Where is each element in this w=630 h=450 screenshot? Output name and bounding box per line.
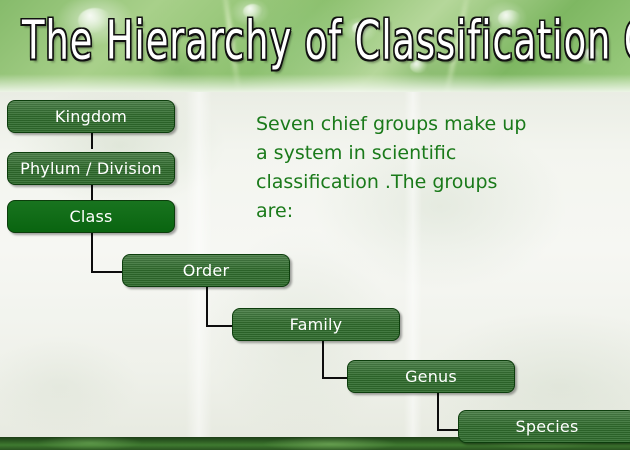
description-line: a system in scientific	[256, 139, 606, 168]
hierarchy-node-label: Family	[290, 315, 343, 334]
slide-canvas: The Hierarchy of Classification Groups K…	[0, 0, 630, 450]
hierarchy-node-label: Phylum / Division	[20, 159, 162, 178]
description-line: Seven chief groups make up	[256, 110, 606, 139]
connector-order-family-vertical	[206, 287, 208, 326]
hierarchy-node-order[interactable]: Order	[122, 254, 290, 287]
hierarchy-node-label: Class	[69, 207, 112, 226]
hierarchy-node-label: Species	[516, 417, 579, 436]
connector-genus-species-vertical	[437, 391, 439, 430]
hierarchy-node-label: Kingdom	[55, 107, 127, 126]
description-line: classification .The groups	[256, 168, 606, 197]
hierarchy-node-family[interactable]: Family	[232, 308, 400, 341]
hierarchy-node-label: Genus	[405, 367, 457, 386]
hierarchy-node-genus[interactable]: Genus	[347, 360, 515, 393]
connector-kingdom-phylum	[91, 133, 93, 149]
hierarchy-node-phylum-division[interactable]: Phylum / Division	[7, 152, 175, 185]
hierarchy-node-kingdom[interactable]: Kingdom	[7, 100, 175, 133]
connector-family-genus-vertical	[322, 339, 324, 378]
page-title: The Hierarchy of Classification Groups	[22, 3, 608, 81]
hierarchy-node-label: Order	[183, 261, 229, 280]
hierarchy-node-class[interactable]: Class	[7, 200, 175, 233]
connector-phylum-class	[91, 185, 93, 201]
description-text: Seven chief groups make up a system in s…	[256, 110, 606, 226]
description-line: are:	[256, 197, 606, 226]
hierarchy-node-species[interactable]: Species	[458, 410, 630, 443]
connector-class-order-vertical	[91, 233, 93, 272]
